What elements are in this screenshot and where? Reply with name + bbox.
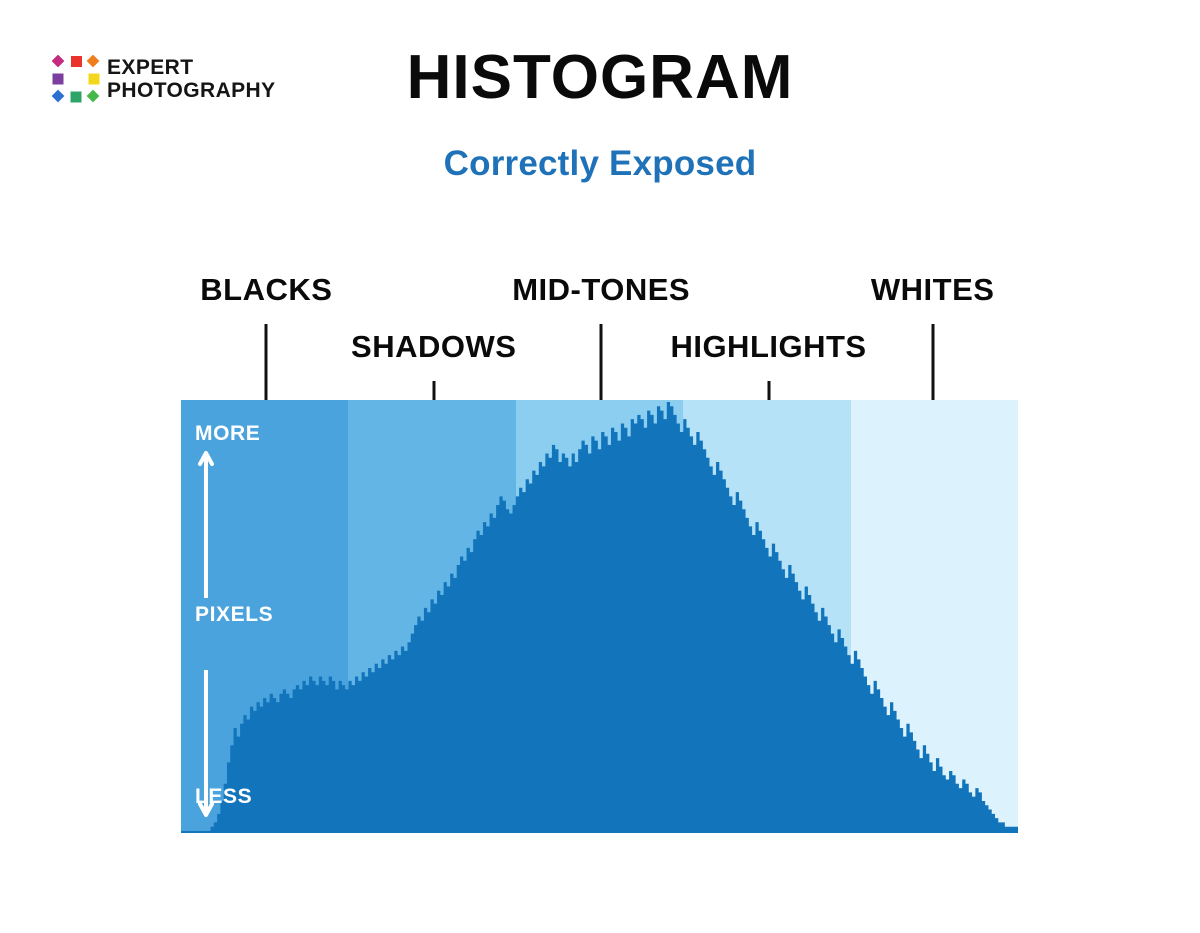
zone-label-highlights: HIGHLIGHTS <box>670 329 866 365</box>
page-subtitle: Correctly Exposed <box>0 144 1200 184</box>
zone-label-mid-tones: MID-TONES <box>512 272 690 308</box>
histogram-chart <box>181 400 1018 833</box>
zone-label-blacks: BLACKS <box>200 272 332 308</box>
histogram-curve <box>181 400 1018 833</box>
zone-label-whites: WHITES <box>871 272 995 308</box>
page-title: HISTOGRAM <box>0 42 1200 113</box>
zone-label-shadows: SHADOWS <box>351 329 516 365</box>
